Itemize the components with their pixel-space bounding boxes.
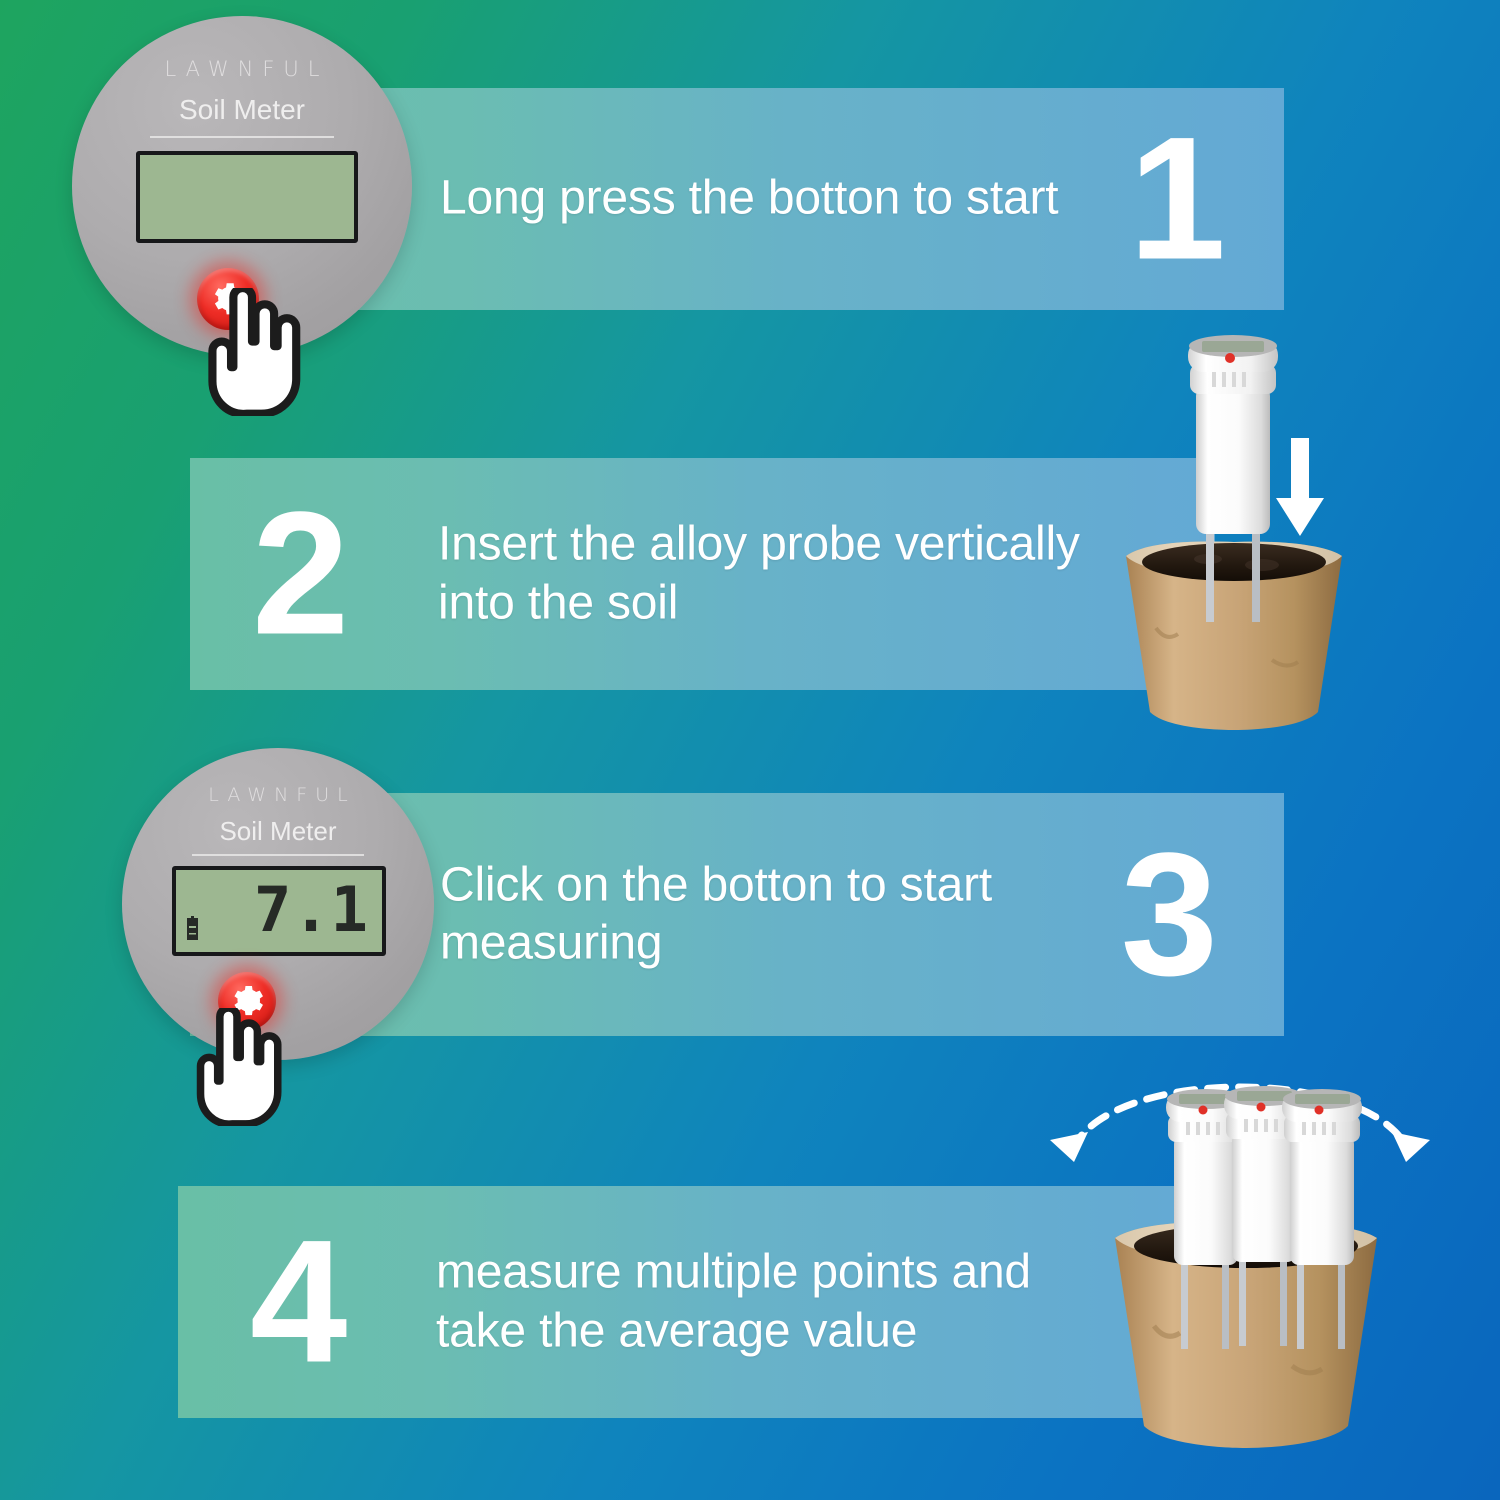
step-2-text: Insert the alloy probe vertically into t…	[438, 515, 1080, 632]
battery-icon	[187, 918, 198, 940]
brand-name: LAWNFUL	[122, 784, 434, 806]
insert-direction-arrow	[1272, 438, 1328, 536]
device-model-name: Soil Meter	[122, 816, 434, 847]
lcd-screen-reading: 7.1	[172, 866, 386, 956]
hand-cursor-step3	[178, 1008, 296, 1126]
step-3-number: 3	[1121, 834, 1214, 995]
step-4-number: 4	[250, 1222, 343, 1383]
step-1-text: Long press the botton to start	[440, 170, 1058, 229]
brand-underline	[150, 136, 334, 138]
lcd-reading-value: 7.1	[254, 879, 369, 941]
device-model-name: Soil Meter	[72, 94, 412, 126]
step-4-text: measure multiple points and take the ave…	[436, 1243, 1031, 1360]
step-2-bar: 2 Insert the alloy probe vertically into…	[190, 458, 1215, 690]
probe-icon	[1266, 1085, 1378, 1355]
lcd-screen-empty	[136, 151, 358, 243]
soil-probe-device-step4-right	[1266, 1085, 1378, 1355]
step-3-text: Click on the botton to start measuring	[440, 856, 992, 973]
brand-underline	[192, 854, 364, 856]
step-2-number: 2	[252, 494, 345, 655]
step-4-bar: 4 measure multiple points and take the a…	[178, 1186, 1218, 1418]
pointing-hand-icon	[188, 288, 316, 416]
hand-cursor-step1	[188, 288, 316, 416]
instruction-infographic: Long press the botton to start 1 LAWNFUL…	[0, 0, 1500, 1500]
pointing-hand-icon	[178, 1008, 296, 1126]
step-1-number: 1	[1129, 119, 1222, 280]
brand-name: LAWNFUL	[72, 57, 412, 81]
arrow-down-icon	[1272, 438, 1328, 536]
